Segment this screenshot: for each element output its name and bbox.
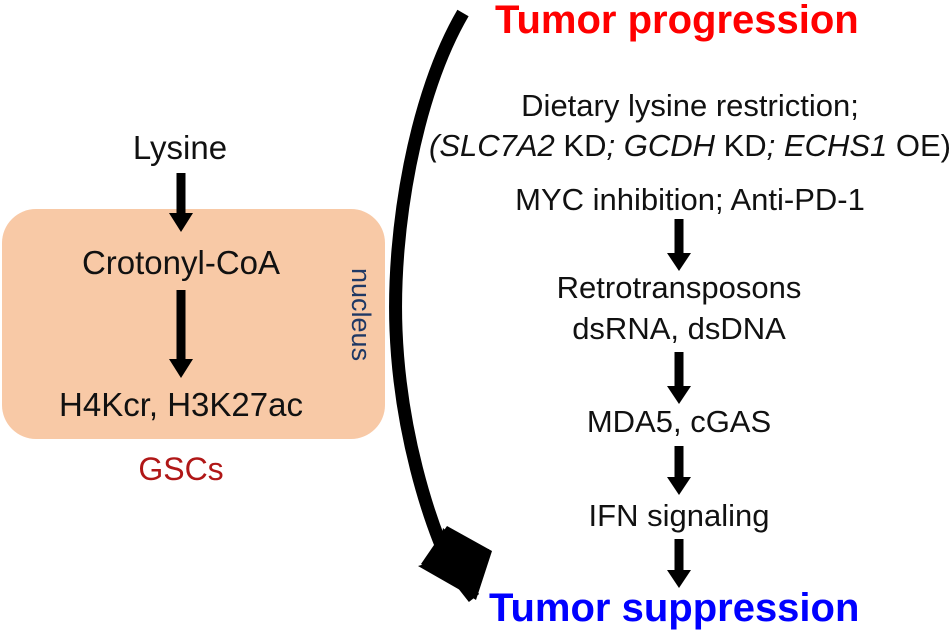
intervention-line-2: (SLC7A2 KD; GCDH KD; ECHS1 OE) — [429, 130, 950, 161]
arrow-crotonyl-to-marks — [168, 290, 194, 378]
step-lysine-label: Lysine — [133, 131, 227, 164]
arrow-sensors-to-ifn — [666, 446, 692, 495]
arrow-lysine-to-crotonyl — [168, 173, 194, 232]
sep-2: ; — [767, 128, 784, 163]
intervention-line-1: Dietary lysine restriction; — [521, 90, 859, 121]
gene-gcdh: GCDH — [624, 128, 715, 163]
step-histone-marks-label: H4Kcr, H3K27ac — [59, 388, 303, 421]
intervention-line-3: MYC inhibition; Anti-PD-1 — [515, 184, 865, 215]
arrow-ifn-to-tumor-suppression — [666, 539, 692, 588]
arrow-shaft — [675, 219, 684, 254]
nucleus-label: nucleus — [347, 268, 374, 361]
arrow-shaft — [675, 446, 684, 478]
arrow-shaft — [675, 539, 684, 571]
gscs-label: GSCs — [138, 453, 223, 485]
gene-echs1: ECHS1 — [784, 128, 887, 163]
gene-slc7a2: ( — [429, 128, 439, 163]
slc7a2-kd: KD — [555, 128, 607, 163]
gene-slc7a2-name: SLC7A2 — [439, 128, 554, 163]
arrow-head — [667, 386, 691, 404]
pathway-figure: nucleus Lysine Crotonyl-CoA H4Kcr, H3K27… — [0, 0, 950, 633]
arrow-head — [667, 477, 691, 495]
arrow-head — [169, 359, 193, 378]
echs1-oe: OE) — [887, 128, 950, 163]
step-dsrna-dsdna-label: dsRNA, dsDNA — [572, 313, 786, 344]
arrow-head — [169, 213, 193, 232]
tumor-progression-headline: Tumor progression — [495, 0, 859, 40]
arrow-shaft — [177, 290, 186, 360]
sep-1: ; — [606, 128, 623, 163]
step-crotonyl-coa-label: Crotonyl-CoA — [82, 246, 280, 279]
arrow-head — [667, 253, 691, 271]
gcdh-kd: KD — [715, 128, 767, 163]
step-retrotransposons-label: Retrotransposons — [557, 272, 802, 303]
arrow-shaft — [675, 352, 684, 387]
tumor-suppression-headline: Tumor suppression — [489, 588, 859, 628]
arrow-retrotransposons-to-sensors — [666, 352, 692, 404]
arrow-interventions-to-retrotransposons — [666, 219, 692, 271]
step-mda5-cgas-label: MDA5, cGAS — [587, 406, 771, 437]
arrow-shaft — [177, 173, 186, 215]
step-ifn-signaling-label: IFN signaling — [589, 500, 770, 531]
